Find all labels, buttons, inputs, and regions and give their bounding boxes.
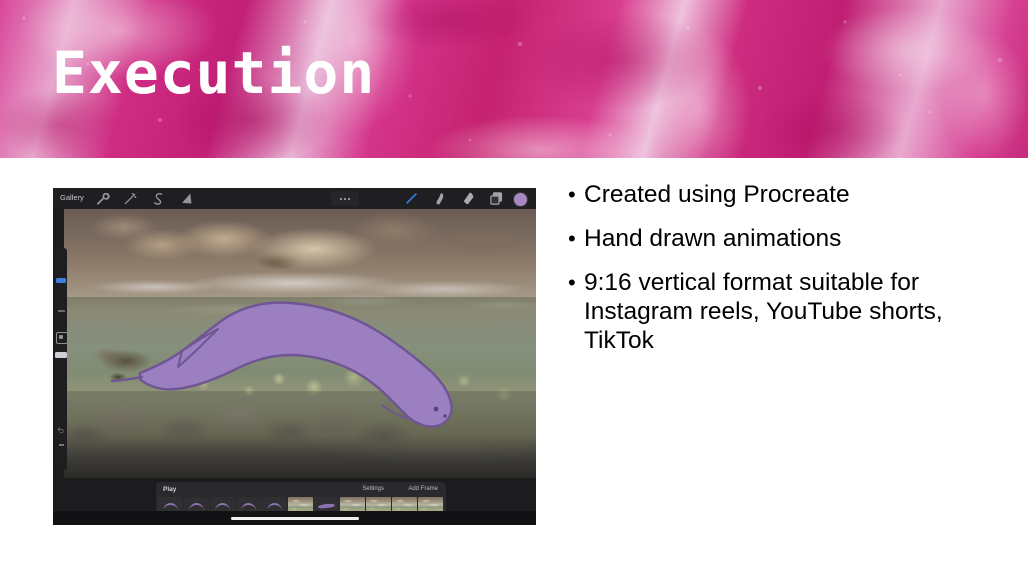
- more-dots-tab[interactable]: [331, 191, 359, 206]
- gallery-button[interactable]: Gallery: [60, 193, 84, 202]
- brush-size-slider[interactable]: [56, 278, 66, 283]
- otter-tail-tip: [112, 377, 142, 381]
- otter-nose: [443, 414, 446, 417]
- page-title: Execution: [52, 44, 375, 102]
- bullet-point-icon: •: [568, 224, 584, 254]
- bullet-point-icon: •: [568, 180, 584, 210]
- magic-wand-adjustments-icon[interactable]: [123, 191, 138, 206]
- smudge-icon[interactable]: [433, 191, 448, 206]
- otter-eye: [434, 407, 439, 412]
- bullet-list: • Created using Procreate • Hand drawn a…: [568, 180, 996, 369]
- dot-icon: [344, 198, 346, 200]
- selection-icon[interactable]: [151, 191, 166, 206]
- procreate-screenshot: Gallery: [53, 188, 536, 525]
- drawing-canvas[interactable]: [64, 209, 536, 478]
- bullet-point-icon: •: [568, 268, 584, 298]
- bullet-text: Hand drawn animations: [584, 224, 841, 253]
- dot-icon: [348, 198, 350, 200]
- procreate-toolbar: Gallery: [53, 188, 536, 209]
- brush-icon[interactable]: [404, 191, 419, 206]
- wrench-actions-icon[interactable]: [95, 191, 110, 206]
- bullet-text: 9:16 vertical format suitable for Instag…: [584, 268, 996, 355]
- transform-arrow-icon[interactable]: [179, 191, 194, 206]
- list-item: • Hand drawn animations: [568, 224, 996, 254]
- undo-icon[interactable]: [57, 426, 65, 434]
- home-indicator[interactable]: [231, 517, 359, 520]
- slider-tick-mark: [58, 310, 65, 312]
- bullet-text: Created using Procreate: [584, 180, 850, 209]
- list-item: • 9:16 vertical format suitable for Inst…: [568, 268, 996, 355]
- add-frame-button[interactable]: Add Frame: [408, 486, 438, 492]
- modify-button[interactable]: [56, 332, 68, 344]
- opacity-slider[interactable]: [55, 352, 67, 358]
- otter-drawing-layer: [64, 209, 536, 478]
- eraser-icon[interactable]: [461, 191, 476, 206]
- list-item: • Created using Procreate: [568, 180, 996, 210]
- layers-icon[interactable]: [489, 191, 504, 206]
- procreate-side-controls: [55, 248, 67, 470]
- play-button[interactable]: Play: [163, 486, 176, 493]
- otter-body-shape: [140, 303, 452, 427]
- color-swatch-button[interactable]: [513, 192, 528, 207]
- redo-icon[interactable]: [59, 444, 64, 446]
- dot-icon: [340, 198, 342, 200]
- animation-settings-button[interactable]: Settings: [362, 486, 384, 492]
